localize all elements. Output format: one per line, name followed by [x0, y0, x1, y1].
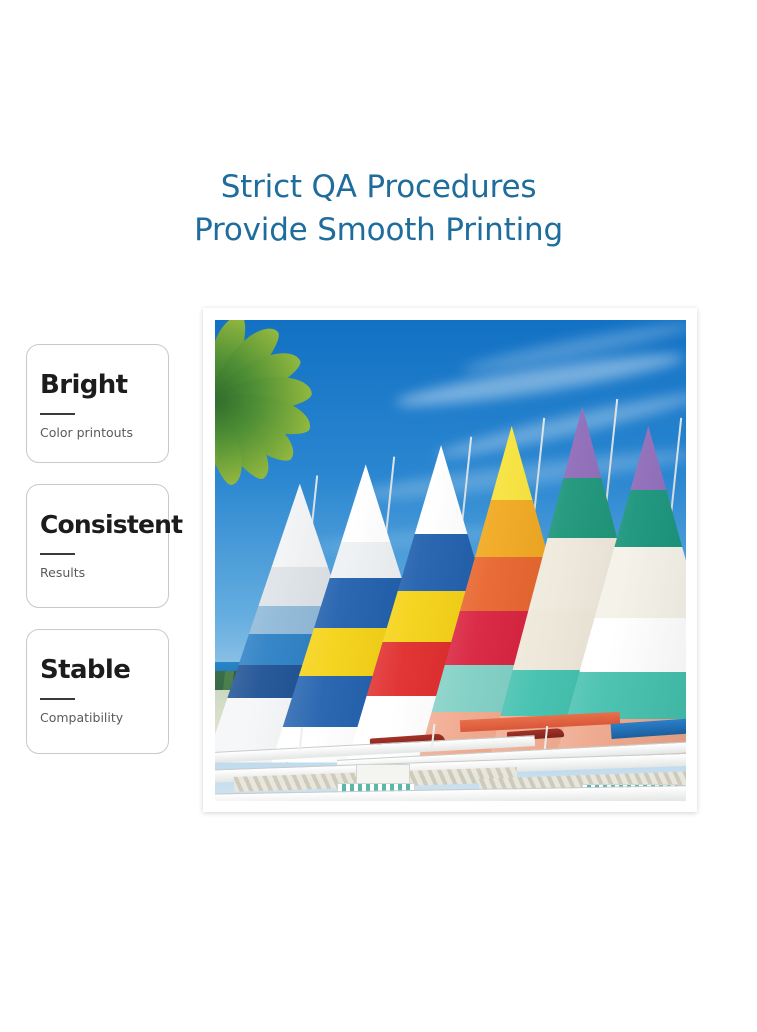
headline-line-2: Provide Smooth Printing — [0, 209, 757, 252]
feature-card-bright: Bright Color printouts — [26, 344, 169, 463]
feature-card-list: Bright Color printouts Consistent Result… — [26, 344, 172, 775]
product-photo-frame — [203, 308, 697, 812]
card-divider — [40, 413, 75, 415]
feature-card-subtitle: Compatibility — [40, 710, 168, 726]
beach-foreground — [215, 724, 686, 801]
feature-card-title: Stable — [40, 656, 168, 684]
sailboats-beach-photo — [215, 320, 686, 801]
page-headline: Strict QA Procedures Provide Smooth Prin… — [0, 166, 757, 252]
headline-line-1: Strict QA Procedures — [0, 166, 757, 209]
feature-card-stable: Stable Compatibility — [26, 629, 169, 754]
card-divider — [40, 698, 75, 700]
feature-card-subtitle: Results — [40, 565, 168, 581]
feature-card-consistent: Consistent Results — [26, 484, 169, 608]
card-divider — [40, 553, 75, 555]
feature-card-subtitle: Color printouts — [40, 425, 168, 441]
palm-tree-icon — [215, 320, 366, 532]
feature-card-title: Consistent — [40, 511, 168, 539]
feature-card-title: Bright — [40, 371, 168, 399]
